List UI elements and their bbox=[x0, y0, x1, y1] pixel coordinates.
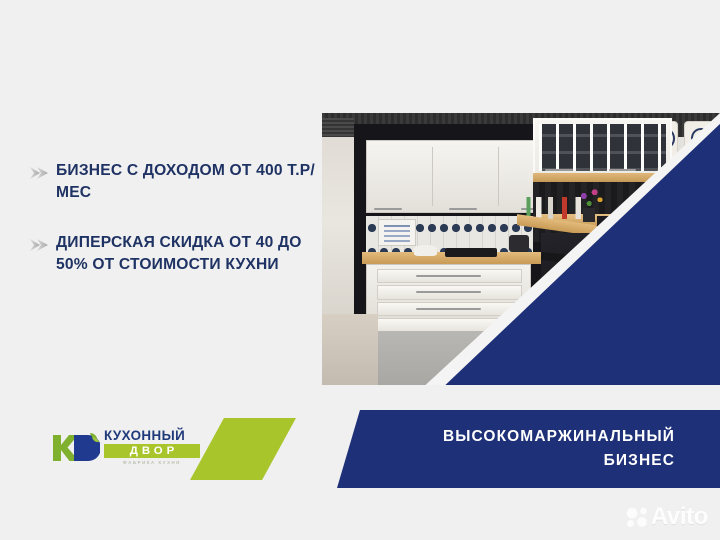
benefit-text: ДИПЕРСКАЯ СКИДКА ОТ 40 ДО 50% ОТ СТОИМОС… bbox=[56, 232, 320, 276]
logo-tagline: ФАБРИКА КУХНИ bbox=[104, 460, 200, 465]
green-parallelogram-accent bbox=[190, 418, 296, 480]
benefits-list: БИЗНЕС С ДОХОДОМ ОТ 400 Т.Р/МЕС ДИПЕРСКА… bbox=[30, 160, 320, 305]
kitchen-showroom-photo bbox=[322, 113, 720, 385]
kd-monogram-icon bbox=[52, 432, 100, 464]
banner-line-2: БИЗНЕС bbox=[604, 449, 675, 473]
banner-line-1: ВЫСОКОМАРЖИНАЛЬНЫЙ bbox=[443, 425, 675, 449]
avito-label: Avito bbox=[651, 503, 708, 531]
banner-text: ВЫСОКОМАРЖИНАЛЬНЫЙ БИЗНЕС bbox=[337, 410, 697, 488]
chevron-right-icon bbox=[30, 165, 49, 181]
avito-watermark: Avito bbox=[625, 502, 708, 532]
logo-word-top: КУХОННЫЙ bbox=[104, 428, 200, 443]
logo-word-bar: ДВОР bbox=[104, 444, 200, 458]
chevron-right-icon bbox=[30, 237, 49, 253]
list-item: БИЗНЕС С ДОХОДОМ ОТ 400 Т.Р/МЕС bbox=[30, 160, 320, 204]
benefit-text: БИЗНЕС С ДОХОДОМ ОТ 400 Т.Р/МЕС bbox=[56, 160, 320, 204]
logo-wordmark: КУХОННЫЙ ДВОР ФАБРИКА КУХНИ bbox=[104, 428, 200, 472]
slide-canvas: БИЗНЕС С ДОХОДОМ ОТ 400 Т.Р/МЕС ДИПЕРСКА… bbox=[0, 0, 720, 540]
list-item: ДИПЕРСКАЯ СКИДКА ОТ 40 ДО 50% ОТ СТОИМОС… bbox=[30, 232, 320, 276]
brand-logo: КУХОННЫЙ ДВОР ФАБРИКА КУХНИ bbox=[52, 428, 198, 474]
avito-dots-icon bbox=[625, 506, 651, 528]
